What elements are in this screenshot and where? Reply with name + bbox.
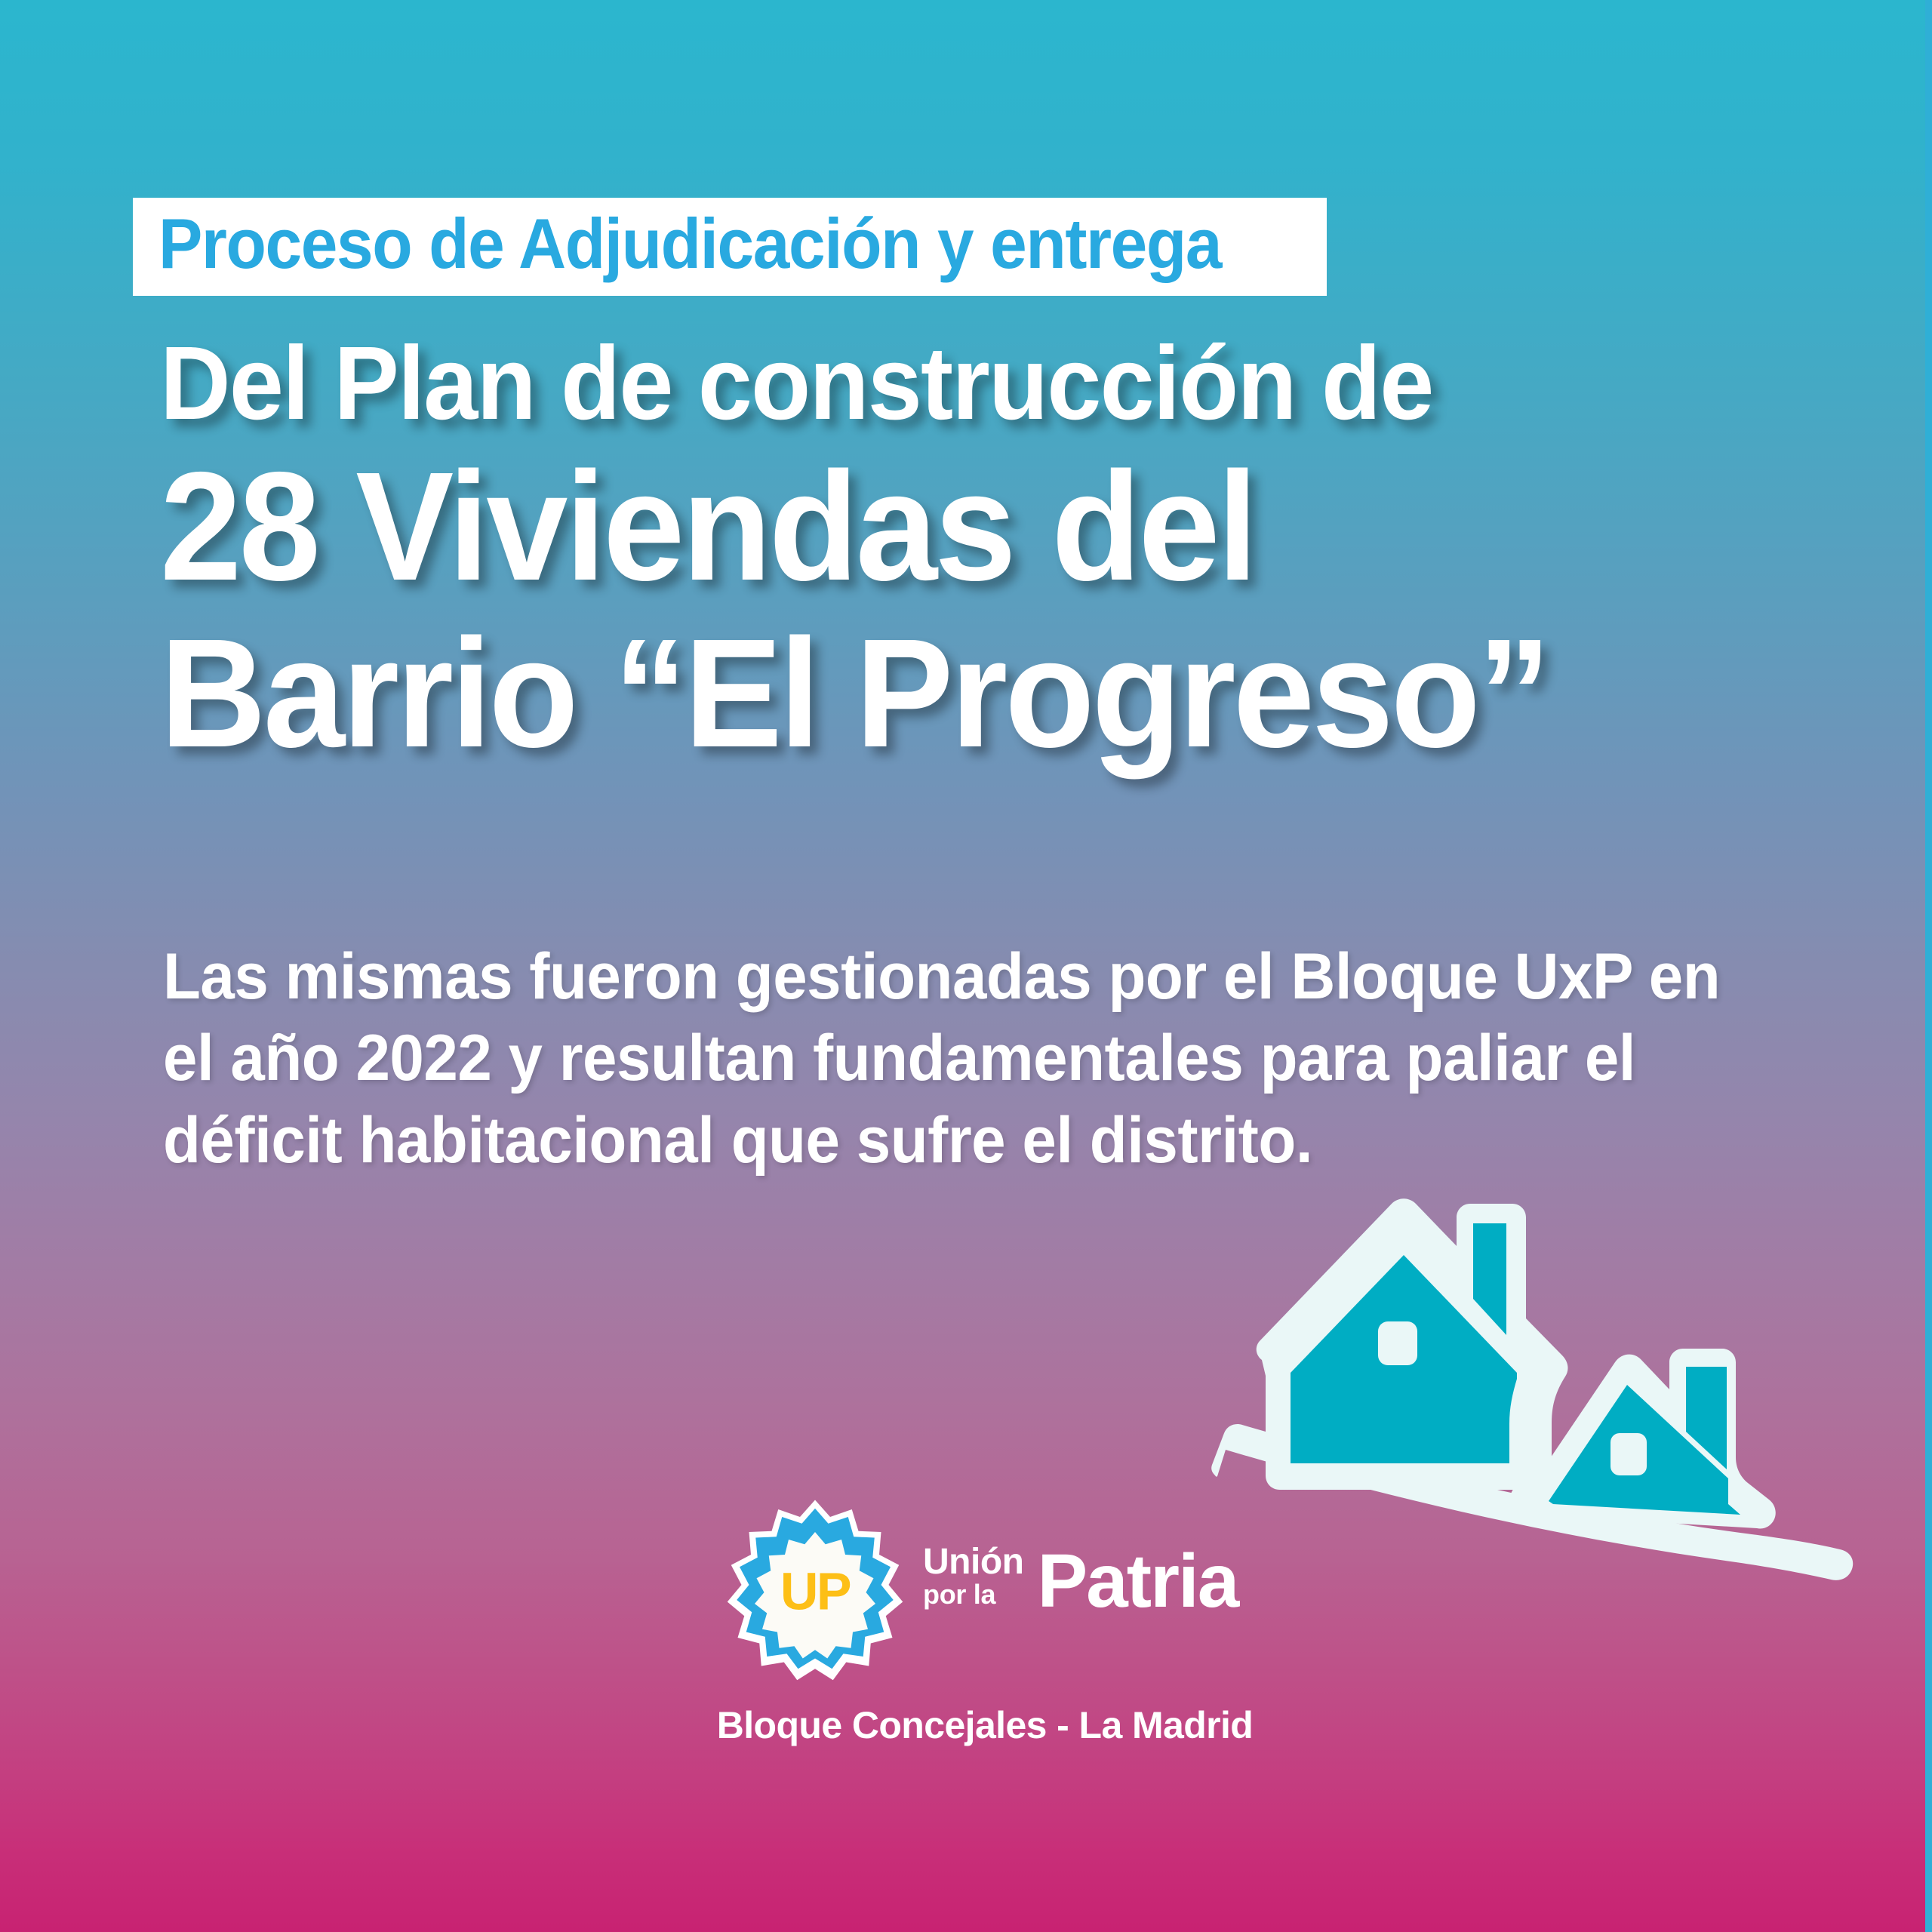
- up-starburst-badge: UP: [721, 1498, 909, 1687]
- window-large: [1378, 1321, 1417, 1365]
- union-por-la-patria-wordmark: Unión por la Patria: [923, 1545, 1238, 1615]
- body-line-3: déficit habitacional que sufre el distri…: [163, 1100, 1712, 1181]
- wordmark-patria: Patria: [1037, 1547, 1238, 1615]
- window-small: [1611, 1433, 1647, 1475]
- body-paragraph: Las mismas fueron gestionadas por el Blo…: [163, 936, 1793, 1181]
- headline-line-1: Del Plan de construcción de: [160, 332, 1735, 435]
- body-line-1: Las mismas fueron gestionadas por el Blo…: [163, 936, 1712, 1017]
- headline-line-2: 28 Viviendas del: [160, 451, 1752, 604]
- wordmark-union: Unión: [923, 1545, 1023, 1579]
- body-line-2: el año 2022 y resultan fundamentales par…: [163, 1017, 1712, 1099]
- up-initials: UP: [780, 1562, 851, 1621]
- org-caption: Bloque Concejales - La Madrid: [713, 1703, 1257, 1747]
- logo-lockup: UP Unión por la Patria Bloque Concejales…: [721, 1498, 1249, 1785]
- eyebrow-badge: Proceso de Adjudicación y entrega: [133, 198, 1327, 296]
- eyebrow-label: Proceso de Adjudicación y entrega: [158, 208, 1221, 279]
- wordmark-por-la: por la: [923, 1582, 1023, 1607]
- right-edge-strip: [1925, 0, 1932, 1932]
- page-title: Del Plan de construcción de 28 Viviendas…: [160, 332, 1835, 770]
- headline-line-3: Barrio “El Progreso”: [160, 617, 1752, 771]
- poster-canvas: Proceso de Adjudicación y entrega Del Pl…: [0, 0, 1932, 1932]
- wordmark-stack: Unión por la: [923, 1545, 1023, 1615]
- two-houses-illustration: [1207, 1174, 1857, 1596]
